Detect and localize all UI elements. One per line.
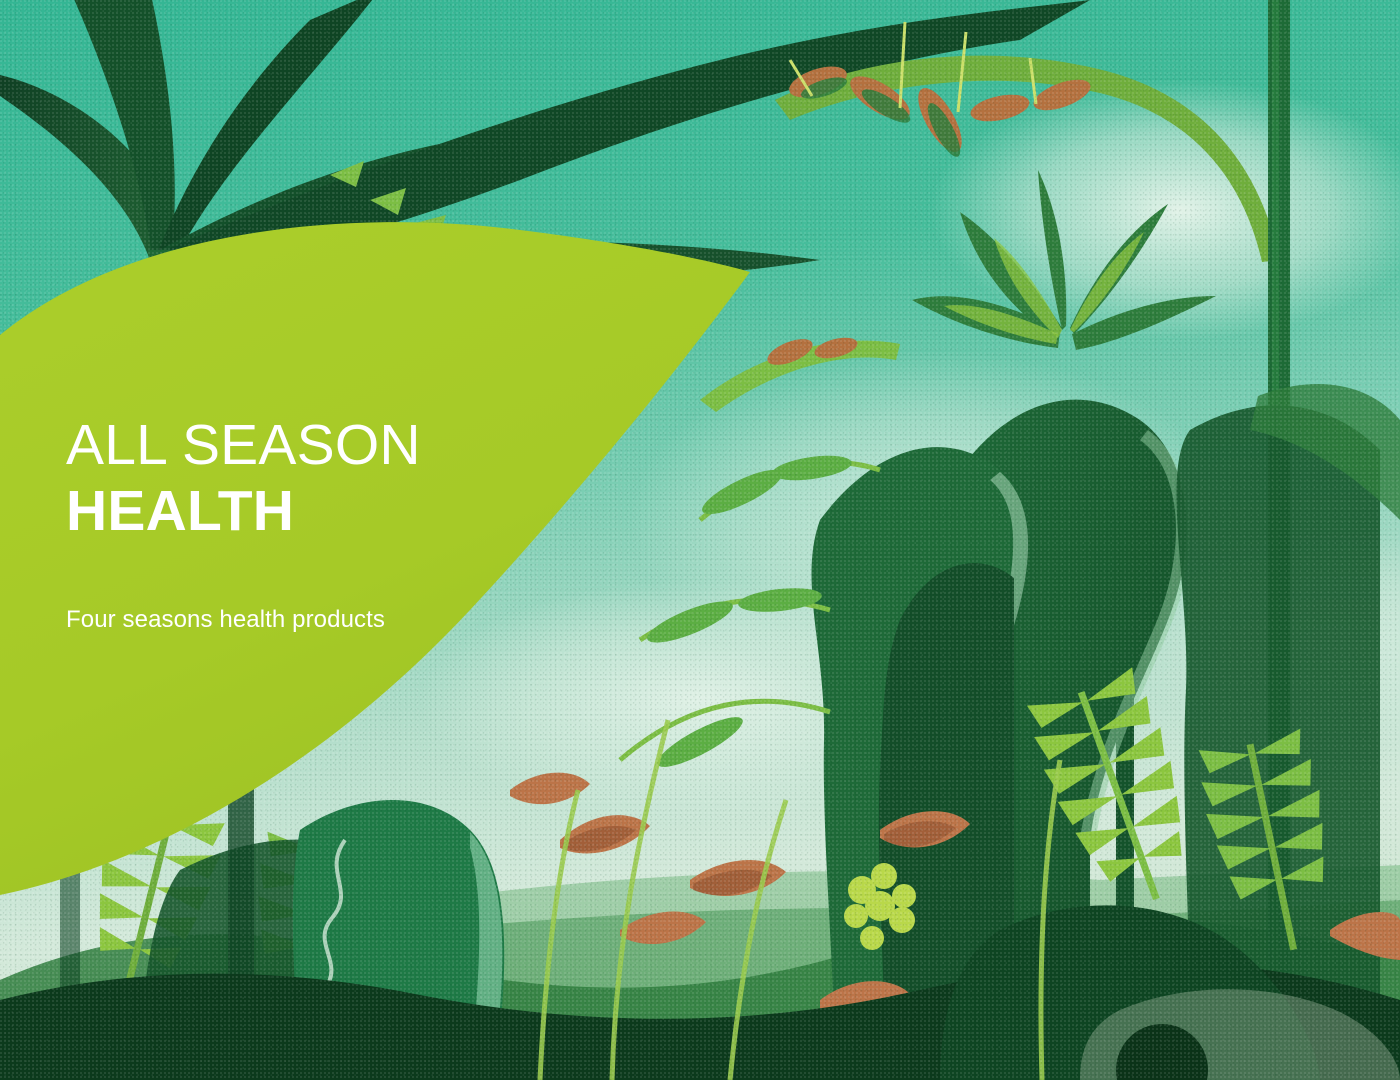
headline-line-1: ALL SEASON (66, 412, 586, 478)
headline-line-2: HEALTH (66, 478, 586, 544)
leaf-panel-content: ALL SEASON HEALTH Four seasons health pr… (66, 412, 586, 634)
banner-root: ALL SEASON HEALTH Four seasons health pr… (0, 0, 1400, 1080)
page-title: ALL SEASON HEALTH (66, 412, 586, 544)
subtitle: Four seasons health products (66, 544, 586, 634)
